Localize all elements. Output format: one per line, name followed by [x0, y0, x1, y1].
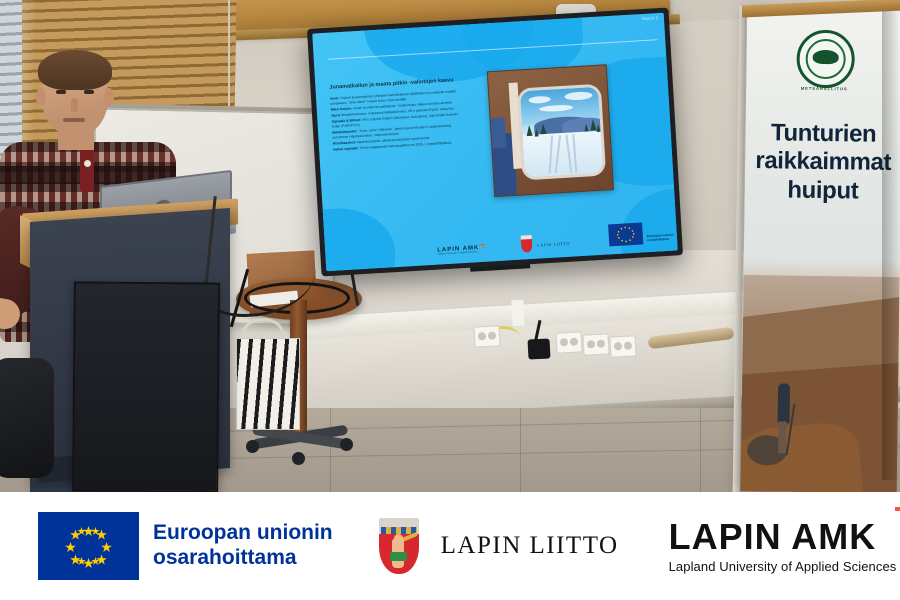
- train-window: [517, 84, 606, 181]
- table-caster: [246, 440, 259, 453]
- black-plug: [527, 338, 550, 359]
- slide-title: Junamatkailun ja maata pitkin -valintoje…: [329, 77, 457, 91]
- train-seat: [491, 117, 507, 148]
- slide-corner-label: Matrix 2: [642, 15, 658, 21]
- banner-headline-line: Tunturien: [745, 119, 900, 149]
- window-view: [520, 87, 603, 177]
- presenter-eye: [56, 90, 66, 94]
- presenter-eye: [84, 90, 94, 94]
- slide-eu-flag: [608, 222, 643, 246]
- eu-stars-circle: [38, 512, 139, 580]
- patterned-tote-bag: [236, 338, 300, 430]
- presenter-ear: [36, 88, 46, 106]
- metsahallitus-emblem: [813, 50, 839, 64]
- logo-lapin-amk: LAPIN AMK Lapland University of Applied …: [669, 519, 897, 574]
- cable-trunking: [511, 300, 524, 327]
- eu-flag: [38, 512, 139, 580]
- spruce-tree: [540, 123, 547, 134]
- eu-stars: [608, 222, 643, 246]
- eu-cofunded-text: Euroopan unionin osarahoittama: [153, 521, 333, 571]
- wall-socket: [555, 331, 582, 354]
- wild-man-head: [394, 534, 403, 543]
- spruce-tree: [584, 123, 588, 131]
- divider-panel-foot: [78, 470, 210, 477]
- presenter-hair: [38, 50, 112, 90]
- lapland-coat-of-arms: [379, 518, 419, 574]
- bullet-lead: Miksi Kolarin:: [331, 106, 353, 111]
- amk-corner-mark: [479, 243, 484, 248]
- spruce-tree: [534, 128, 538, 136]
- wall-socket: [609, 335, 636, 358]
- bullet-lead: Heikot signaalit:: [333, 146, 359, 152]
- banner-headline-line: huiput: [745, 176, 900, 206]
- logo-lapin-liitto: LAPIN LIITTO: [379, 518, 619, 574]
- hiker-legs: [778, 421, 786, 453]
- logo-eu-cofunded: Euroopan unionin osarahoittama: [38, 512, 333, 580]
- table-caster: [340, 438, 353, 451]
- sweater-button: [84, 160, 91, 167]
- snow-field: [523, 131, 603, 178]
- rollup-banner: METSÄHALLITUS Tunturien raikkaimmat huip…: [741, 7, 900, 492]
- table-caster: [292, 452, 305, 465]
- banner-headline-line: raikkaimmat: [745, 147, 900, 177]
- wild-man-skirt: [390, 552, 407, 561]
- banner-photo: [741, 275, 900, 492]
- metsahallitus-logo: [796, 30, 855, 89]
- spruce-tree: [596, 124, 600, 132]
- wall-socket: [473, 325, 500, 348]
- sweater-placket: [80, 148, 94, 192]
- bullet-lead: Ajurit:: [331, 113, 341, 118]
- lapin-amk-sublabel: Lapland University of Applied Sciences: [669, 559, 897, 574]
- amk-corner-mark-icon: [895, 507, 900, 524]
- dark-divider-panel: [72, 281, 220, 492]
- slide-bullets: Ilmiö: Yöjunat ja autonomiset yhteydet m…: [330, 89, 465, 154]
- bullet-lead: Riski/haasteet:: [333, 140, 356, 145]
- screenshot-root: Matrix 2 Junamatkailun ja maata pitkin -…: [0, 0, 900, 600]
- eu-text-line2: osarahoittama: [153, 546, 333, 571]
- backpack: [0, 358, 54, 478]
- presenter-mouth: [63, 118, 85, 122]
- crown: [379, 518, 419, 534]
- lapin-liitto-label: LAPIN LIITTO: [441, 532, 619, 560]
- eu-text-line1: Euroopan unionin: [153, 521, 333, 546]
- slide-lapland-coat-of-arms: [521, 235, 533, 253]
- lapin-amk-label: LAPIN AMK: [669, 519, 897, 555]
- slide-logo-lapin-amk: LAPIN AMK Lapland University of Applied …: [437, 245, 480, 256]
- screen-panel: Matrix 2 Junamatkailun ja maata pitkin -…: [312, 13, 677, 271]
- presenter-nose: [71, 98, 78, 112]
- metsahallitus-label: METSÄHALLITUS: [746, 85, 900, 92]
- conference-photo: Matrix 2 Junamatkailun ja maata pitkin -…: [0, 0, 900, 492]
- slide-eu-label: Euroopan unionin osarahoittama: [647, 232, 678, 242]
- banner-headline: Tunturien raikkaimmat huiput: [745, 119, 900, 206]
- slide: Matrix 2 Junamatkailun ja maata pitkin -…: [312, 13, 677, 271]
- slide-logo-lapin-liitto: LAPIN LIITTO: [537, 241, 570, 248]
- hiker: [778, 383, 791, 423]
- presentation-screen: Matrix 2 Junamatkailun ja maata pitkin -…: [307, 7, 683, 276]
- presenter-ear: [104, 88, 114, 106]
- slide-image-train-window: [487, 64, 614, 197]
- wall-socket: [582, 333, 609, 356]
- spruce-tree: [526, 125, 533, 136]
- banner-shadow: [882, 10, 900, 480]
- sponsor-logo-bar: Euroopan unionin osarahoittama LAPIN LII…: [0, 492, 900, 600]
